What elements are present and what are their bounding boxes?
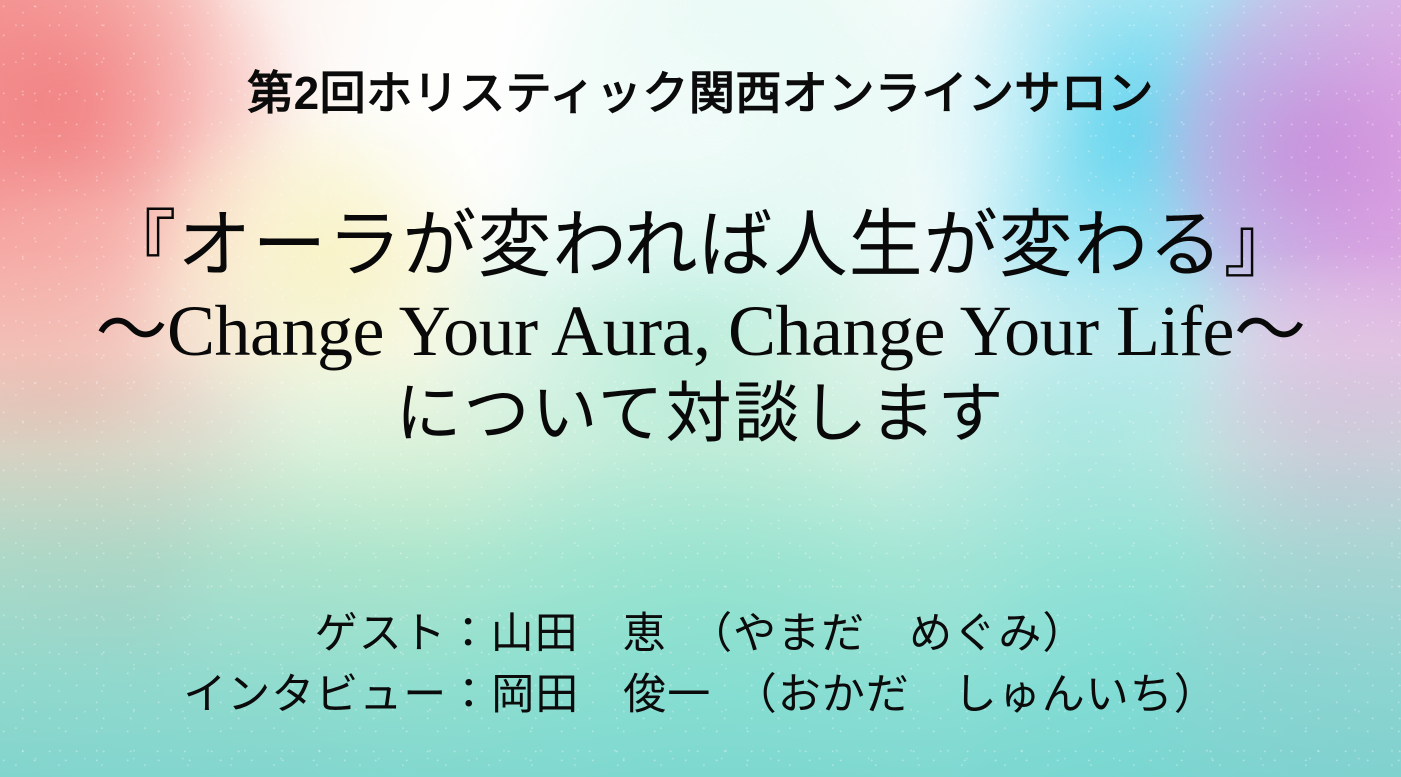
slide-content: 第2回ホリスティック関西オンラインサロン 『オーラが変われば人生が変わる』 〜C… xyxy=(0,0,1401,777)
event-series-heading: 第2回ホリスティック関西オンラインサロン xyxy=(0,68,1401,119)
credits-block: ゲスト：山田 恵 （やまだ めぐみ） インタビュー：岡田 俊一 （おかだ しゅん… xyxy=(0,604,1401,726)
title-block: 『オーラが変われば人生が変わる』 〜Change Your Aura, Chan… xyxy=(0,205,1401,454)
credit-interviewer: インタビュー：岡田 俊一 （おかだ しゅんいち） xyxy=(0,665,1401,726)
title-english-subtitle: 〜Change Your Aura, Change Your Life〜 xyxy=(0,288,1401,376)
title-japanese-primary: 『オーラが変われば人生が変わる』 xyxy=(0,205,1401,288)
slide-canvas: 第2回ホリスティック関西オンラインサロン 『オーラが変われば人生が変わる』 〜C… xyxy=(0,0,1401,777)
credit-guest: ゲスト：山田 恵 （やまだ めぐみ） xyxy=(0,604,1401,665)
title-japanese-secondary: について対談します xyxy=(0,376,1401,454)
